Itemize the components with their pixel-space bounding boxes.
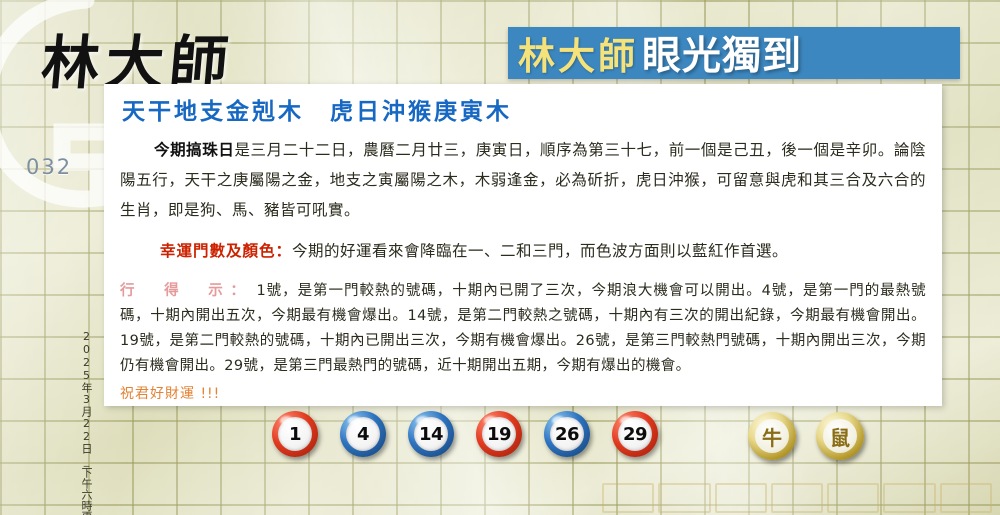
tips-label: 行 得 示： <box>120 283 252 299</box>
watermark-box <box>715 483 767 513</box>
article-panel: 天干地支金剋木 虎日沖猴庚寅木 今期搞珠日是三月二十二日，農曆二月廿三，庚寅日，… <box>104 84 942 406</box>
tagline-slogan: 眼光獨到 <box>642 25 802 81</box>
tips-block: 行 得 示：1號，是第一門較熱的號碼，十期內已開了三次，今期浪大機會可以開出。4… <box>120 279 926 379</box>
lucky-text: 今期的好運看來會降臨在一、二和三門，而色波方面則以藍紅作首選。 <box>292 242 788 260</box>
lucky-label: 幸運門數及顏色： <box>160 242 292 260</box>
article-main-paragraph: 今期搞珠日是三月二十二日，農曆二月廿三，庚寅日，順序為第三十七，前一個是己丑，後… <box>120 135 926 225</box>
zodiac-medallion-rat[interactable]: 鼠 <box>816 412 864 460</box>
paragraph-body: 是三月二十二日，農曆二月廿三，庚寅日，順序為第三十七，前一個是己丑，後一個是辛卯… <box>120 141 926 219</box>
ball-highlight <box>552 416 565 425</box>
zodiac-character: 牛 <box>762 422 782 451</box>
issue-number: 032 <box>26 155 72 179</box>
lottery-ball[interactable]: 1 <box>272 411 318 457</box>
update-timestamp: 2025年3月22日_下午六時更新 <box>78 330 94 515</box>
zodiac-face: 牛 <box>755 419 789 453</box>
ball-number: 19 <box>487 424 511 445</box>
ball-number: 14 <box>419 424 443 445</box>
background-watermark <box>602 469 992 513</box>
ball-highlight <box>280 416 293 425</box>
lottery-ball[interactable]: 29 <box>612 411 658 457</box>
ball-number: 26 <box>555 424 579 445</box>
zodiac-medallion-ox[interactable]: 牛 <box>748 412 796 460</box>
article-heading: 天干地支金剋木 虎日沖猴庚寅木 <box>122 92 942 126</box>
watermark-box <box>883 483 935 513</box>
watermark-box <box>771 483 823 513</box>
blessing-line: 祝君好財運 !!! <box>120 383 926 403</box>
watermark-box <box>940 483 992 513</box>
ball-highlight <box>348 416 361 425</box>
zodiac-row: 牛 鼠 <box>748 412 864 460</box>
watermark-box <box>827 483 879 513</box>
lottery-ball[interactable]: 14 <box>408 411 454 457</box>
tagline-brand: 林大師 <box>518 26 638 80</box>
ball-number: 1 <box>289 424 301 445</box>
lucky-numbers-line: 幸運門數及顏色：今期的好運看來會降臨在一、二和三門，而色波方面則以藍紅作首選。 <box>120 237 926 265</box>
lottery-ball[interactable]: 26 <box>544 411 590 457</box>
lottery-ball[interactable]: 19 <box>476 411 522 457</box>
ball-number: 29 <box>623 424 647 445</box>
poster-root: 032 2025年3月22日_下午六時更新 林大師 林大師 眼光獨到 天干地支金… <box>0 0 1000 515</box>
lottery-ball[interactable]: 4 <box>340 411 386 457</box>
tagline-banner: 林大師 眼光獨到 <box>508 27 960 79</box>
zodiac-character: 鼠 <box>830 422 850 451</box>
paragraph-lead-label: 今期搞珠日 <box>154 141 234 159</box>
ball-highlight <box>484 416 497 425</box>
lottery-ball-row: 1 4 14 19 26 <box>272 411 658 457</box>
ball-highlight <box>620 416 633 425</box>
watermark-box <box>602 483 654 513</box>
ball-number: 4 <box>357 424 369 445</box>
zodiac-face: 鼠 <box>823 419 857 453</box>
watermark-box <box>658 483 710 513</box>
ball-highlight <box>416 416 429 425</box>
